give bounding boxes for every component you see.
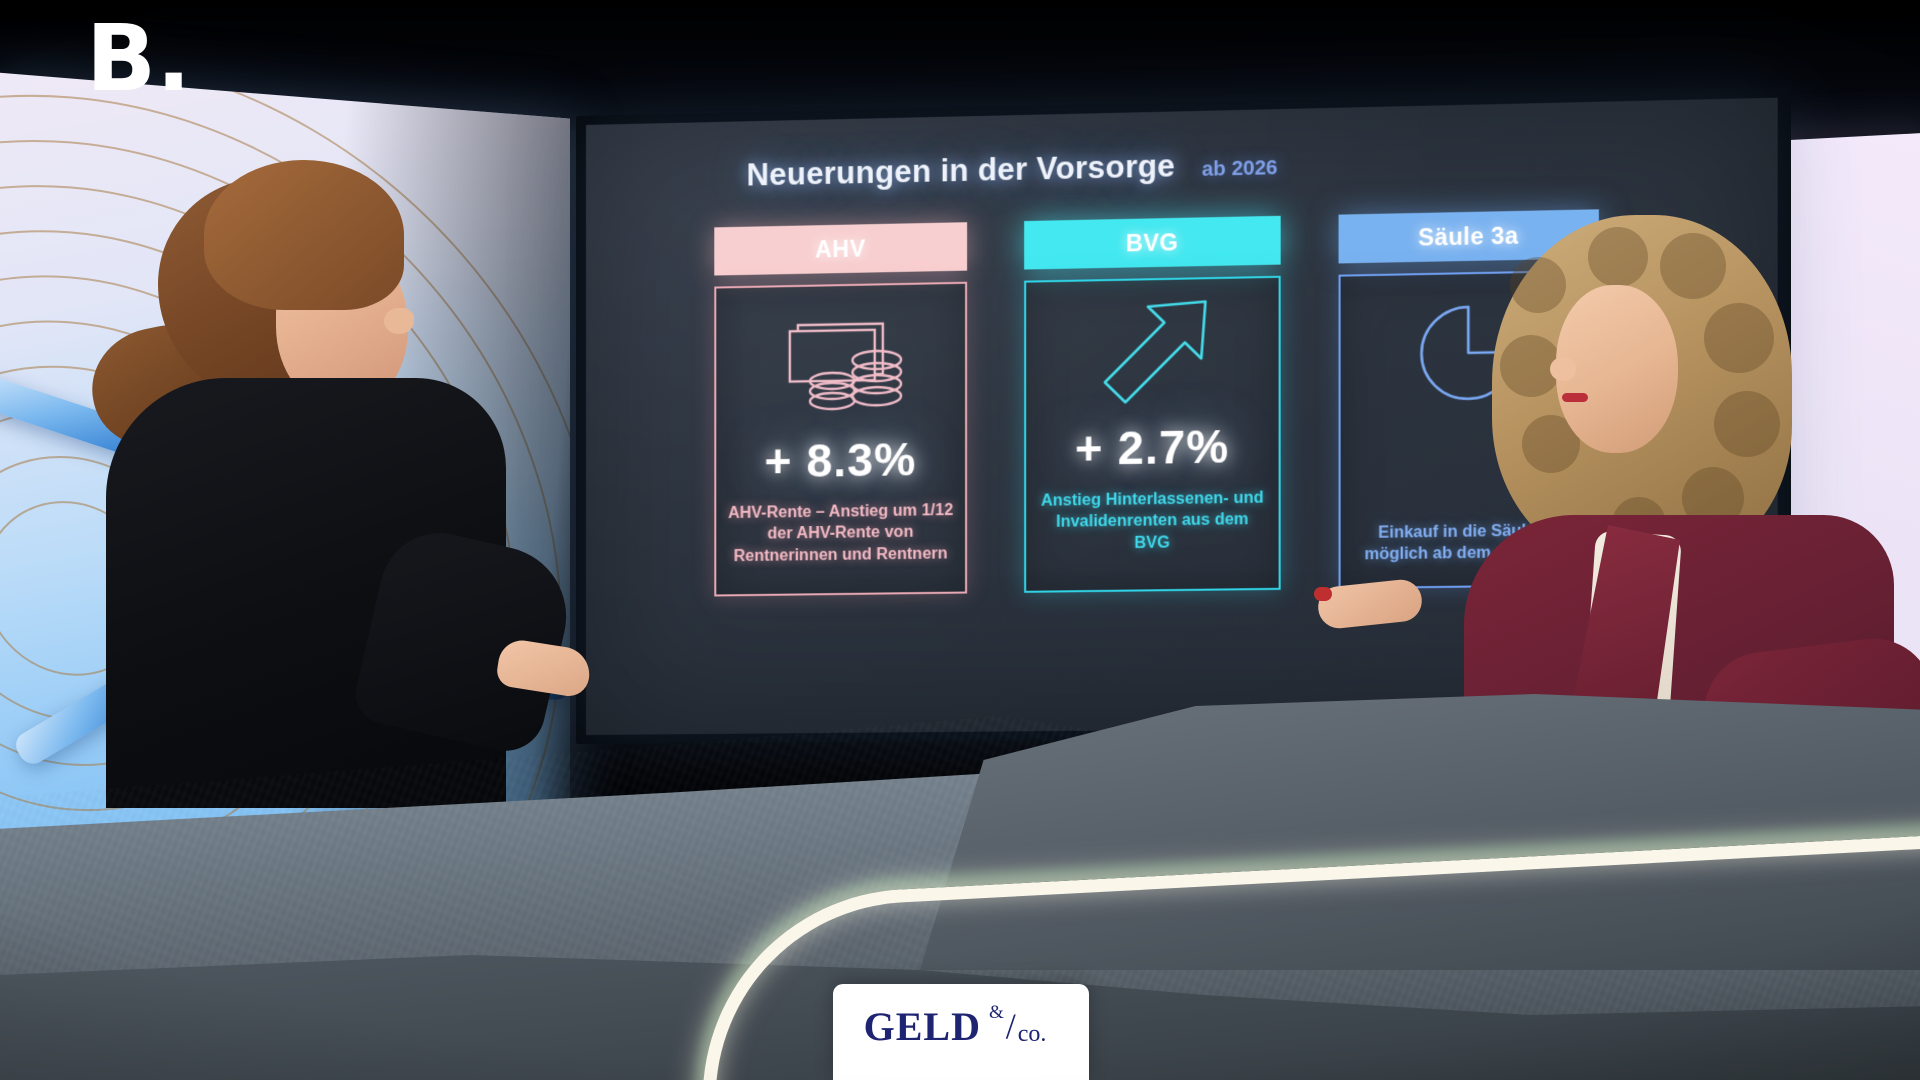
card-bvg-body: + 2.7% Anstieg Hinterlassenen- und Inval… bbox=[1024, 276, 1281, 593]
card-ahv-value: + 8.3% bbox=[764, 432, 916, 489]
banknote-coins-icon bbox=[774, 285, 907, 420]
presenter-right-nose bbox=[1550, 357, 1576, 381]
show-logo-main: GELD bbox=[864, 1003, 981, 1050]
slide-title-row: Neuerungen in der Vorsorge ab 2026 bbox=[746, 146, 1277, 194]
show-logo-ampersand: & bbox=[989, 1002, 1004, 1024]
card-bvg-header: BVG bbox=[1024, 216, 1281, 270]
card-bvg-value: + 2.7% bbox=[1075, 419, 1229, 476]
slide-title: Neuerungen in der Vorsorge bbox=[746, 148, 1175, 194]
arrow-up-right-icon bbox=[1091, 279, 1214, 415]
card-ahv-description: AHV-Rente – Anstieg um 1/12 der AHV-Rent… bbox=[716, 500, 965, 567]
card-ahv[interactable]: AHV bbox=[714, 222, 967, 596]
show-logo-co: co. bbox=[1018, 1021, 1047, 1048]
presenter-right-nail bbox=[1314, 587, 1332, 601]
slide-subtitle: ab 2026 bbox=[1202, 157, 1278, 182]
broadcast-frame: Neuerungen in der Vorsorge ab 2026 AHV bbox=[0, 0, 1920, 1080]
presenter-right-lips bbox=[1562, 393, 1588, 402]
show-logo-card: GELD & / co. bbox=[833, 984, 1089, 1080]
card-bvg-description: Anstieg Hinterlassenen- und Invalidenren… bbox=[1026, 487, 1278, 555]
card-ahv-header: AHV bbox=[714, 222, 967, 275]
channel-logo: B. bbox=[86, 22, 160, 106]
show-logo-slash: / bbox=[1006, 1005, 1016, 1047]
card-ahv-body: + 8.3% AHV-Rente – Anstieg um 1/12 der A… bbox=[714, 282, 967, 597]
presenter-left-nose bbox=[384, 308, 414, 334]
card-bvg[interactable]: BVG + 2.7% Anstieg Hinterlassenen- und I… bbox=[1024, 216, 1281, 593]
channel-logo-text: B. bbox=[86, 22, 191, 96]
presenter-left-fringe bbox=[204, 160, 404, 310]
